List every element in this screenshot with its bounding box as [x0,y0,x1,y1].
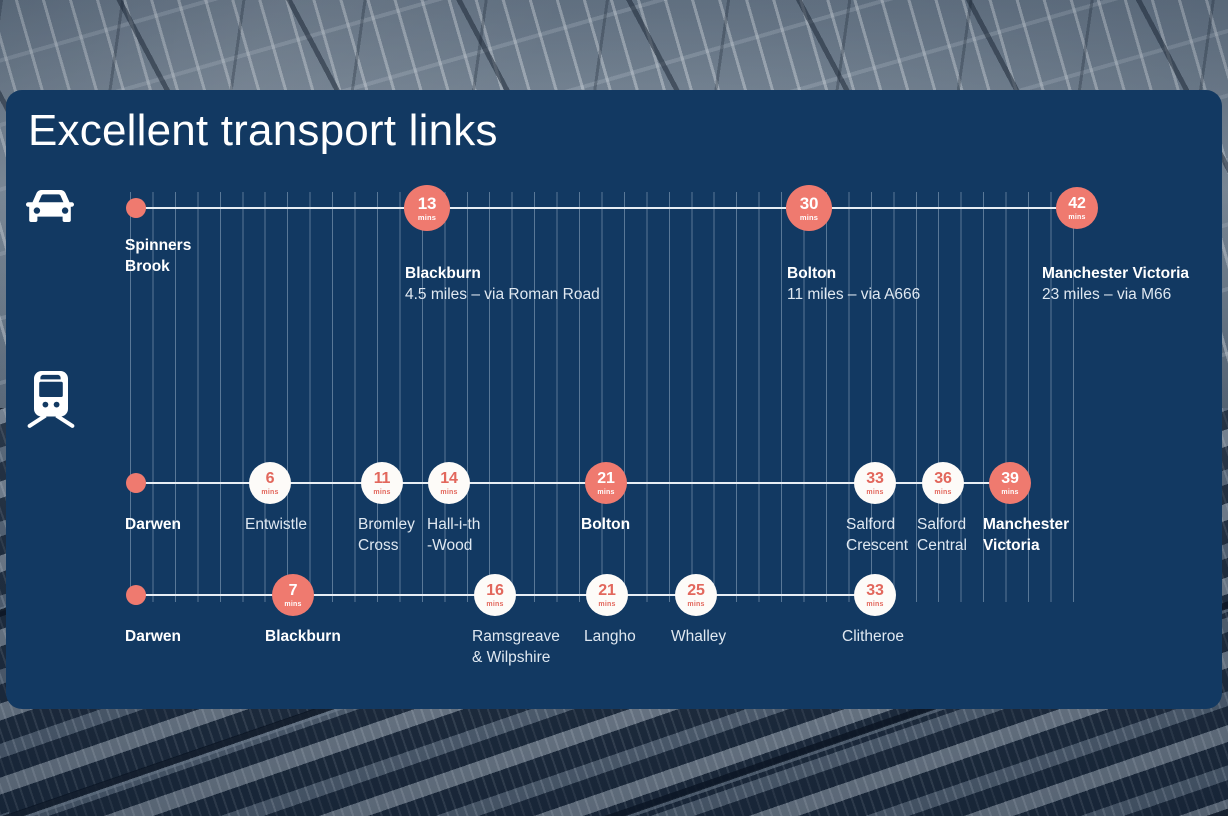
station-node-entwistle[interactable]: 6 mins [249,462,291,504]
station-detail: 4.5 miles – via Roman Road [405,284,600,306]
station-node-bromley-cross[interactable]: 11 mins [361,462,403,504]
station-label-darwen-manchester: Darwen [125,514,181,535]
station-node-darwen-clitheroe[interactable] [126,585,146,605]
station-node-bolton-car[interactable]: 30 mins [786,185,832,231]
station-node-ramsgreave-wilpshire[interactable]: 16 mins [474,574,516,616]
duration-unit: mins [934,489,951,496]
duration-value: 33 [866,583,883,599]
station-label-blackburn-train: Blackburn [265,626,341,647]
station-name: Blackburn [405,265,481,282]
duration-unit: mins [486,601,503,608]
duration-unit: mins [598,601,615,608]
train-icon [22,368,80,435]
page-title: Excellent transport links [28,106,498,156]
duration-value: 33 [866,471,883,487]
station-label-manchester-victoria-train: Manchester Victoria [983,514,1069,556]
station-node-darwen-manchester[interactable] [126,473,146,493]
station-node-langho[interactable]: 21 mins [586,574,628,616]
station-label-darwen-clitheroe: Darwen [125,626,181,647]
duration-value: 30 [800,195,819,212]
slide-canvas: Excellent transport links Spinners Brook… [0,0,1228,816]
duration-value: 39 [1001,471,1018,487]
station-node-manchester-victoria-car[interactable]: 42 mins [1056,187,1098,229]
station-label-clitheroe: Clitheroe [842,626,904,647]
station-node-bolton-train[interactable]: 21 mins [585,462,627,504]
station-name: Bolton [787,265,836,282]
duration-value: 6 [266,471,275,487]
station-label-whalley: Whalley [671,626,726,647]
duration-value: 7 [289,583,298,599]
duration-unit: mins [800,214,818,222]
station-label-manchester-victoria-car: Manchester Victoria 23 miles – via M66 [1042,242,1189,327]
station-label-salford-crescent: Salford Crescent [846,514,908,556]
station-label-entwistle: Entwistle [245,514,307,535]
duration-unit: mins [597,489,614,496]
station-label-bolton-car: Bolton 11 miles – via A666 [787,242,920,327]
station-node-salford-central[interactable]: 36 mins [922,462,964,504]
duration-unit: mins [440,489,457,496]
duration-value: 13 [418,195,437,212]
duration-unit: mins [261,489,278,496]
duration-value: 21 [598,583,615,599]
station-label-salford-central: Salford Central [917,514,967,556]
station-detail: 11 miles – via A666 [787,284,920,306]
station-label-hall-i-th-wood: Hall-i-th -Wood [427,514,480,556]
station-label-blackburn-car: Blackburn 4.5 miles – via Roman Road [405,242,600,327]
station-name: Manchester Victoria [1042,265,1189,282]
duration-unit: mins [1068,214,1085,221]
duration-value: 11 [374,471,391,487]
duration-value: 42 [1068,196,1085,212]
station-label-ramsgreave-wilpshire: Ramsgreave & Wilpshire [472,626,560,668]
duration-unit: mins [866,601,883,608]
station-node-manchester-victoria-train[interactable]: 39 mins [989,462,1031,504]
station-label-bromley-cross: Bromley Cross [358,514,415,556]
duration-unit: mins [866,489,883,496]
station-node-blackburn-train[interactable]: 7 mins [272,574,314,616]
duration-unit: mins [1001,489,1018,496]
duration-value: 14 [440,471,457,487]
station-label-spinners-brook: Spinners Brook [125,235,191,277]
station-detail: 23 miles – via M66 [1042,284,1189,306]
duration-value: 36 [934,471,951,487]
station-node-hall-i-th-wood[interactable]: 14 mins [428,462,470,504]
duration-value: 25 [687,583,704,599]
duration-unit: mins [373,489,390,496]
station-node-whalley[interactable]: 25 mins [675,574,717,616]
station-node-blackburn-car[interactable]: 13 mins [404,185,450,231]
transport-links-panel: Excellent transport links Spinners Brook… [6,90,1222,709]
station-node-salford-crescent[interactable]: 33 mins [854,462,896,504]
station-label-langho: Langho [584,626,636,647]
station-node-spinners-brook[interactable] [126,198,146,218]
station-label-bolton-train: Bolton [581,514,630,535]
duration-unit: mins [418,214,436,222]
duration-value: 16 [486,583,503,599]
station-node-clitheroe[interactable]: 33 mins [854,574,896,616]
duration-unit: mins [687,601,704,608]
duration-unit: mins [284,601,301,608]
route-line-car [136,207,1081,209]
car-icon [22,188,80,233]
duration-value: 21 [597,471,614,487]
